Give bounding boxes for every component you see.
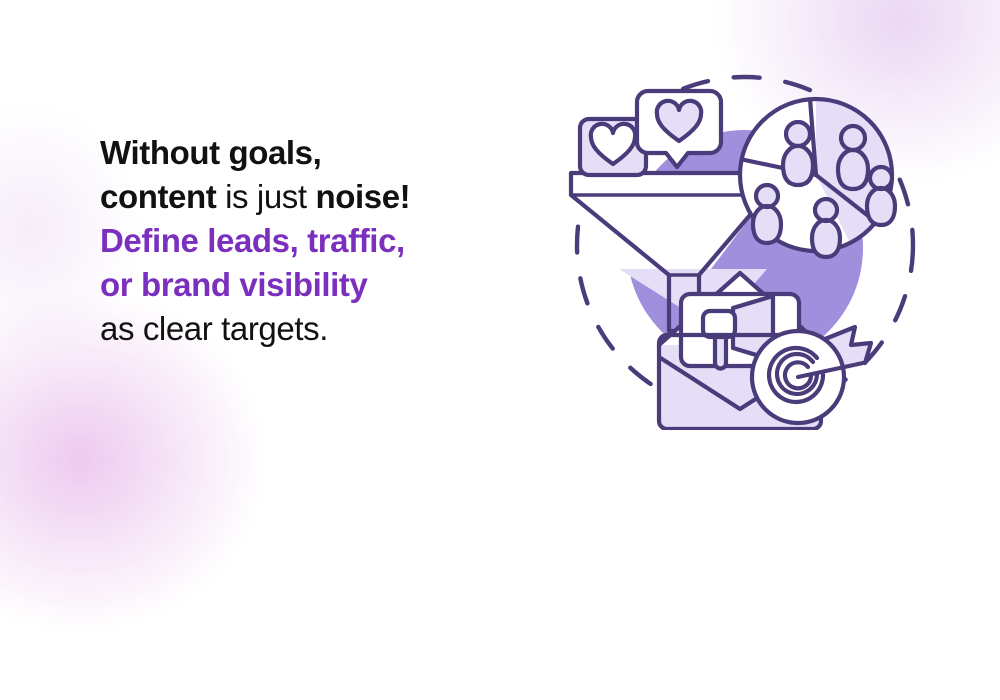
headline-line-3: Define leads, traffic,	[100, 219, 530, 263]
headline-line-2-regular: is just	[216, 178, 315, 215]
person-icon-3	[867, 167, 895, 225]
headline-line-1-text: Without goals,	[100, 134, 321, 171]
person-icon-5	[753, 185, 781, 243]
banner-canvas: Without goals, content is just noise! De…	[0, 0, 1000, 500]
pie-chart-audience-icon	[740, 95, 907, 257]
person-icon-4	[812, 199, 840, 257]
headline-line-2: content is just noise!	[100, 175, 530, 219]
target-with-arrow-icon	[752, 327, 871, 423]
person-icon-2	[838, 126, 868, 189]
headline-line-4-text: or brand visibility	[100, 266, 367, 303]
headline-line-3-text: Define leads, traffic,	[100, 222, 405, 259]
headline-line-2-bold-b: noise!	[315, 178, 410, 215]
person-icon-1	[783, 122, 813, 185]
headline-line-1: Without goals,	[100, 131, 530, 175]
headline-line-2-bold-a: content	[100, 178, 216, 215]
headline-line-4: or brand visibility	[100, 263, 530, 307]
headline-line-5-text: as clear targets.	[100, 310, 328, 347]
content-marketing-goals-illustration: .st { fill:none; stroke:#4A3B7A; stroke-…	[555, 55, 925, 430]
headline-text-block: Without goals, content is just noise! De…	[100, 131, 530, 351]
headline-line-5: as clear targets.	[100, 307, 530, 351]
